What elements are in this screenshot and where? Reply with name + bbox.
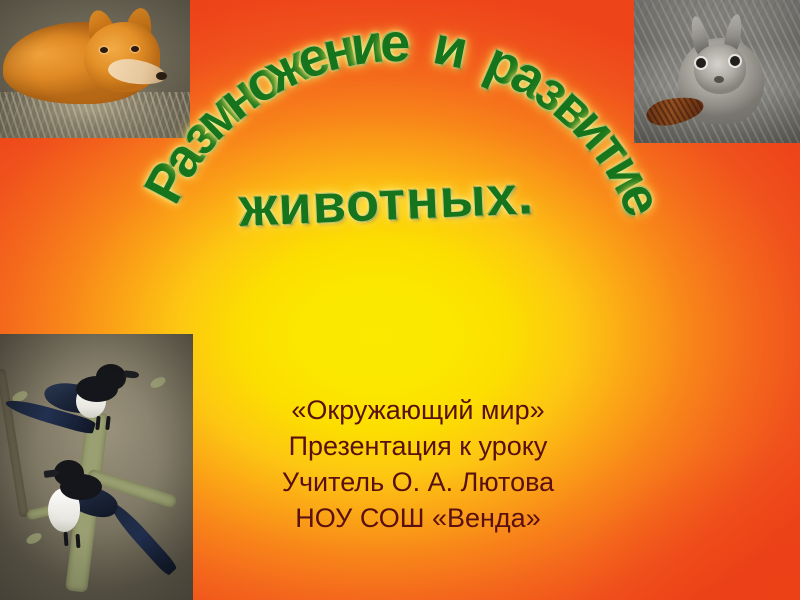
slide-subtitle-block: «Окружающий мир» Презентация к уроку Учи… bbox=[212, 392, 624, 536]
fox-photo-vignette bbox=[0, 0, 190, 138]
rabbit-photo-vignette bbox=[634, 0, 800, 143]
magpie-photo bbox=[0, 334, 193, 600]
subtitle-line-3: Учитель О. А. Лютова bbox=[212, 464, 624, 500]
presentation-title-slide: Размножение и развитие животных. «Окружа… bbox=[0, 0, 800, 600]
subtitle-line-4: НОУ СОШ «Венда» bbox=[212, 500, 624, 536]
magpie-photo-vignette bbox=[0, 334, 193, 600]
fox-photo bbox=[0, 0, 190, 138]
rabbit-photo bbox=[634, 0, 800, 143]
subtitle-line-1: «Окружающий мир» bbox=[212, 392, 624, 428]
subtitle-line-2: Презентация к уроку bbox=[212, 428, 624, 464]
